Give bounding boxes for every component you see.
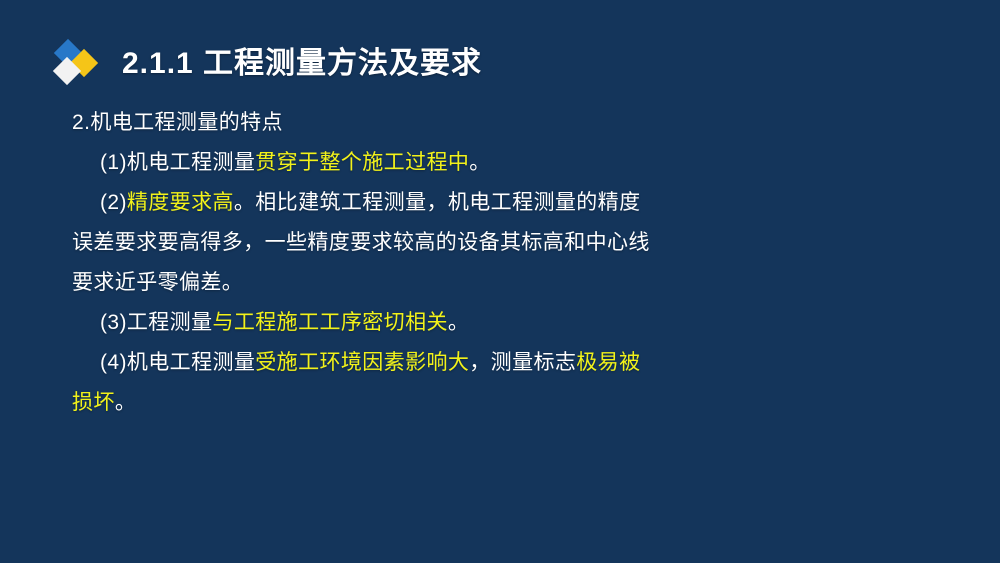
plain-text: 误差要求要高得多，一些精度要求较高的设备其标高和中心线 [72, 231, 650, 254]
plain-text: (2) [100, 191, 127, 214]
highlighted-text: 贯穿于整个施工过程中 [255, 151, 469, 174]
plain-text: 。 [115, 391, 136, 414]
plain-text: (3)工程测量 [100, 311, 212, 334]
diamond-logo-icon [52, 38, 104, 90]
content-line: (3)工程测量与工程施工工序密切相关。 [72, 303, 772, 343]
plain-text: 。 [448, 311, 469, 334]
content-line: (1)机电工程测量贯穿于整个施工过程中。 [72, 143, 772, 183]
content-line: (4)机电工程测量受施工环境因素影响大，测量标志极易被 [72, 343, 772, 383]
highlighted-text: 与工程施工工序密切相关 [212, 311, 447, 334]
slide-body: 2.机电工程测量的特点 (1)机电工程测量贯穿于整个施工过程中。(2)精度要求高… [72, 103, 772, 423]
plain-text: (1)机电工程测量 [100, 151, 255, 174]
plain-text: 要求近乎零偏差。 [72, 271, 243, 294]
highlighted-text: 损坏 [72, 391, 115, 414]
plain-text: 。 [469, 151, 490, 174]
highlighted-text: 极易被 [576, 351, 640, 374]
content-heading: 2.机电工程测量的特点 [72, 103, 772, 143]
slide-canvas: 2.1.1 工程测量方法及要求 2.机电工程测量的特点 (1)机电工程测量贯穿于… [0, 0, 1000, 563]
content-line: 误差要求要高得多，一些精度要求较高的设备其标高和中心线 [72, 223, 772, 263]
plain-text: ，测量标志 [469, 351, 576, 374]
content-item-list: (1)机电工程测量贯穿于整个施工过程中。(2)精度要求高。相比建筑工程测量，机电… [72, 143, 772, 423]
slide-title-row: 2.1.1 工程测量方法及要求 [52, 38, 482, 90]
highlighted-text: 受施工环境因素影响大 [255, 351, 469, 374]
highlighted-text: 精度要求高 [127, 191, 234, 214]
plain-text: 。相比建筑工程测量，机电工程测量的精度 [234, 191, 641, 214]
content-line: 损坏。 [72, 383, 772, 423]
plain-text: (4)机电工程测量 [100, 351, 255, 374]
page-title: 2.1.1 工程测量方法及要求 [122, 49, 482, 79]
content-line: 要求近乎零偏差。 [72, 263, 772, 303]
content-line: (2)精度要求高。相比建筑工程测量，机电工程测量的精度 [72, 183, 772, 223]
